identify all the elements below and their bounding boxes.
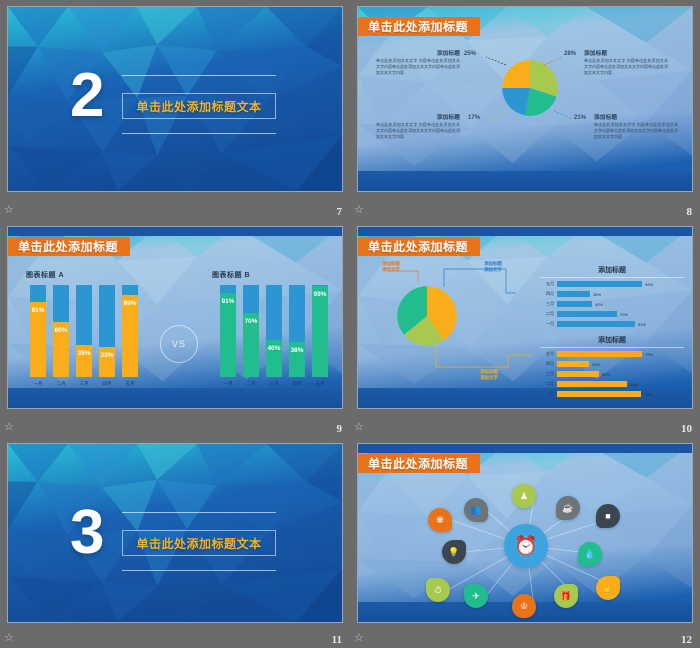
hbar-row: 二月70% bbox=[540, 311, 684, 318]
star-icon[interactable]: ☆ bbox=[4, 421, 16, 433]
divider-top bbox=[122, 75, 276, 76]
battery-icon: ■ bbox=[605, 512, 610, 521]
divider-bottom bbox=[122, 570, 276, 571]
pin-node-bulb[interactable]: 💡 bbox=[442, 540, 466, 564]
divider-bottom bbox=[122, 133, 276, 134]
slide-title-bar[interactable]: 单击此处添加标题 bbox=[8, 237, 130, 256]
hbar-fill bbox=[557, 381, 627, 387]
slide-cell-12: 单击此处添加标题 bbox=[350, 437, 700, 648]
clock-icon: ⏱ bbox=[434, 586, 441, 595]
callout-block-bottom-left[interactable]: 添加标题 单击此处添加文本文字 内容单击此处添加文本文字内容单击此处添加文本文字… bbox=[376, 113, 460, 141]
bar-category: 五月 bbox=[312, 381, 328, 387]
callout-body: 单击此处添加文本文字 内容单击此处添加文本文字内容单击此处添加文本文字内容单击此… bbox=[594, 122, 678, 141]
bar-category: 三月 bbox=[76, 381, 92, 387]
section-number: 3 bbox=[70, 502, 102, 564]
thumbnail-footer: ☆ 10 bbox=[350, 413, 700, 437]
pie-callout-left: 添加标题添加文字 bbox=[368, 261, 414, 273]
pie-callout-bottom: 添加标题添加文字 bbox=[466, 369, 512, 381]
bar-column: 60%二月 bbox=[53, 285, 69, 377]
bar-value: 99% bbox=[312, 291, 328, 298]
star-icon[interactable]: ☆ bbox=[354, 421, 366, 433]
hbar-value: 70% bbox=[620, 312, 628, 317]
section-title-box[interactable]: 单击此处添加标题文本 bbox=[122, 93, 276, 119]
callout-block-top-right[interactable]: 添加标题 单击此处添加文本文字 内容单击此处添加文本文字内容单击此处添加文本文字… bbox=[584, 49, 668, 77]
thumbnail-footer: ☆ 9 bbox=[0, 413, 350, 437]
bar-value: 33% bbox=[99, 352, 115, 359]
callout-heading: 添加标题 bbox=[594, 113, 678, 121]
hbar-category: 四月 bbox=[540, 291, 554, 297]
hbar-category: 二月 bbox=[540, 381, 554, 387]
bar-column: 99%五月 bbox=[312, 285, 328, 377]
pie-percent-28: 28% bbox=[564, 51, 576, 57]
hbar-category: 三月 bbox=[540, 301, 554, 307]
callout-block-bottom-right[interactable]: 添加标题 单击此处添加文本文字 内容单击此处添加文本文字内容单击此处添加文本文字… bbox=[594, 113, 678, 141]
bar-category: 三月 bbox=[266, 381, 282, 387]
pie-percent-25: 25% bbox=[464, 51, 476, 57]
callout-body: 单击此处添加文本文字 内容单击此处添加文本文字内容单击此处添加文本文字内容单击此… bbox=[376, 122, 460, 141]
bar-category: 一月 bbox=[220, 381, 236, 387]
hbar-row: 三月40% bbox=[540, 301, 684, 308]
hbar-fill bbox=[557, 321, 635, 327]
thumbnail-footer: ☆ 8 bbox=[350, 198, 700, 220]
hbar-fill bbox=[557, 291, 590, 297]
hbar-fill bbox=[557, 361, 589, 367]
slide-title: 单击此处添加标题 bbox=[18, 238, 118, 255]
hand-icon: ✋ bbox=[602, 584, 613, 593]
icon-cluster: ⏰ ❋ 👥 ♟ 💡 ☕ ■ 💧 ⏱ bbox=[358, 444, 692, 622]
star-icon[interactable]: ☆ bbox=[354, 632, 366, 644]
slide-11[interactable]: 3 单击此处添加标题文本 bbox=[7, 443, 343, 623]
hbar-row: 二月80% bbox=[540, 381, 684, 388]
hbar-row: 四月38% bbox=[540, 291, 684, 298]
bar-value: 60% bbox=[53, 327, 69, 334]
user-group-icon: 👥 bbox=[470, 506, 481, 515]
bar-column: 70%二月 bbox=[243, 285, 259, 377]
bar-column: 33%四月 bbox=[99, 285, 115, 377]
callout-leader-lines bbox=[358, 7, 693, 192]
hbar-category: 一月 bbox=[540, 391, 554, 397]
pin-node-user-group[interactable]: 👥 bbox=[464, 498, 488, 522]
page-number: 8 bbox=[687, 206, 693, 218]
bar-value: 35% bbox=[76, 350, 92, 357]
pin-node-gift[interactable]: 🎁 bbox=[554, 584, 578, 608]
callout-heading: 添加标题 bbox=[584, 49, 668, 57]
hub-node[interactable]: ⏰ bbox=[504, 524, 548, 568]
slide-7[interactable]: 2 单击此处添加标题文本 bbox=[7, 6, 343, 192]
hbar-value: 38% bbox=[593, 292, 601, 297]
pin-node-molecule[interactable]: ❋ bbox=[428, 508, 452, 532]
hbar-fill bbox=[557, 351, 642, 357]
pin-node-clock[interactable]: ⏱ bbox=[426, 578, 450, 602]
bar-category: 二月 bbox=[53, 381, 69, 387]
bar-value: 70% bbox=[243, 318, 259, 325]
footer-band bbox=[8, 388, 342, 408]
page-number: 9 bbox=[337, 423, 343, 435]
hbar-row: 五月79% bbox=[540, 351, 684, 358]
bar-column: 89%五月 bbox=[122, 285, 138, 377]
hbar-value: 91% bbox=[638, 322, 646, 327]
page-number: 11 bbox=[332, 634, 342, 646]
slide-cell-11: 3 单击此处添加标题文本 ☆ 11 bbox=[0, 437, 350, 648]
hbar-panel-top[interactable]: 添加标题 五月99% 四月38% 三月40% 二月70% 一月91% bbox=[540, 265, 684, 328]
hbar-category: 一月 bbox=[540, 321, 554, 327]
bar-value: 91% bbox=[220, 298, 236, 305]
star-icon[interactable]: ☆ bbox=[354, 204, 366, 216]
hbar-fill bbox=[557, 391, 641, 397]
thumbnail-footer: ☆ 11 bbox=[0, 624, 350, 648]
bar-column: 91%一月 bbox=[220, 285, 236, 377]
hbar-category: 二月 bbox=[540, 311, 554, 317]
bar-column: 38%四月 bbox=[289, 285, 305, 377]
slide-cell-10: 单击此处添加标题 添加标题添加文字 bbox=[350, 220, 700, 437]
bar-category: 四月 bbox=[289, 381, 305, 387]
pie-callout-top: 添加标题添加文字 bbox=[470, 261, 516, 273]
bar-category: 五月 bbox=[122, 381, 138, 387]
hbar-value: 40% bbox=[595, 302, 603, 307]
hbar-value: 99% bbox=[645, 282, 653, 287]
callout-heading: 添加标题 bbox=[376, 49, 460, 57]
bar-category: 一月 bbox=[30, 381, 46, 387]
hbar-category: 五月 bbox=[540, 351, 554, 357]
star-icon[interactable]: ☆ bbox=[4, 632, 16, 644]
section-title: 单击此处添加标题文本 bbox=[136, 98, 261, 115]
hbar-category: 四月 bbox=[540, 361, 554, 367]
panel-title: 添加标题 bbox=[540, 335, 684, 348]
star-icon[interactable]: ☆ bbox=[4, 204, 16, 216]
vs-label: VS bbox=[172, 339, 186, 349]
section-number: 2 bbox=[70, 65, 102, 127]
hbar-fill bbox=[557, 311, 617, 317]
bar-category: 四月 bbox=[99, 381, 115, 387]
bar-column: 40%三月 bbox=[266, 285, 282, 377]
hbar-fill bbox=[557, 301, 592, 307]
thumbnail-footer: ☆ 12 bbox=[350, 624, 700, 648]
hbar-row: 四月28% bbox=[540, 361, 684, 368]
hbar-row: 一月72% bbox=[540, 391, 684, 398]
molecule-icon: ❋ bbox=[436, 516, 444, 525]
hbar-fill bbox=[557, 371, 599, 377]
slide-9[interactable]: 单击此处添加标题 图表标题 A 图表标题 B 81%一月 60%二月 35%三月… bbox=[7, 226, 343, 409]
person-icon: ♟ bbox=[520, 492, 528, 501]
bar-value: 38% bbox=[289, 347, 305, 354]
pin-node-person[interactable]: ♟ bbox=[512, 484, 536, 508]
pin-node-crown[interactable]: ♔ bbox=[512, 594, 536, 618]
group-a-title: 图表标题 A bbox=[26, 270, 64, 280]
section-title-box[interactable]: 单击此处添加标题文本 bbox=[122, 530, 276, 556]
hbar-fill bbox=[557, 281, 642, 287]
hbar-value: 28% bbox=[592, 362, 600, 367]
hbar-value: 72% bbox=[644, 392, 652, 397]
callout-block-top-left[interactable]: 添加标题 单击此处添加文本文字 内容单击此处添加文本文字内容单击此处添加文本文字… bbox=[376, 49, 460, 77]
hbar-value: 80% bbox=[630, 382, 638, 387]
page-number: 7 bbox=[337, 206, 343, 218]
hbar-category: 五月 bbox=[540, 281, 554, 287]
panel-title: 添加标题 bbox=[540, 265, 684, 278]
cup-icon: ☕ bbox=[562, 504, 573, 513]
droplet-icon: 💧 bbox=[584, 550, 595, 559]
hbar-row: 五月99% bbox=[540, 281, 684, 288]
hbar-row: 一月91% bbox=[540, 321, 684, 328]
slide-cell-9: 单击此处添加标题 图表标题 A 图表标题 B 81%一月 60%二月 35%三月… bbox=[0, 220, 350, 437]
hbar-panel-bottom[interactable]: 添加标题 五月79% 四月28% 三月50% 二月80% 一月72% bbox=[540, 335, 684, 398]
slide-10[interactable]: 单击此处添加标题 添加标题添加文字 bbox=[357, 226, 693, 409]
hbar-value: 50% bbox=[602, 372, 610, 377]
header-band bbox=[8, 227, 342, 236]
alarm-clock-icon: ⏰ bbox=[514, 537, 538, 556]
hbar-value: 79% bbox=[645, 352, 653, 357]
crown-icon: ♔ bbox=[520, 602, 528, 611]
hbar-category: 三月 bbox=[540, 371, 554, 377]
group-b-title: 图表标题 B bbox=[212, 270, 250, 280]
section-title: 单击此处添加标题文本 bbox=[136, 535, 261, 552]
pin-node-battery[interactable]: ■ bbox=[596, 504, 620, 528]
bar-column: 81%一月 bbox=[30, 285, 46, 377]
callout-body: 单击此处添加文本文字 内容单击此处添加文本文字内容单击此处添加文本文字内容单击此… bbox=[584, 58, 668, 77]
pin-node-droplet[interactable]: 💧 bbox=[578, 542, 602, 566]
bar-group-b[interactable]: 91%一月 70%二月 40%三月 38%四月 99%五月 bbox=[220, 285, 335, 377]
pie-percent-17: 17% bbox=[468, 115, 480, 121]
pin-node-cup[interactable]: ☕ bbox=[556, 496, 580, 520]
bar-column: 35%三月 bbox=[76, 285, 92, 377]
slide-cell-8: 单击此处添加标题 28% bbox=[350, 0, 700, 220]
page-number: 12 bbox=[681, 634, 692, 646]
pin-node-plane[interactable]: ✈ bbox=[464, 584, 488, 608]
gift-icon: 🎁 bbox=[560, 592, 571, 601]
slide-cell-7: 2 单击此处添加标题文本 ☆ 7 bbox=[0, 0, 350, 220]
slide-thumbnail-grid: 2 单击此处添加标题文本 ☆ 7 bbox=[0, 0, 700, 648]
page-number: 10 bbox=[681, 423, 692, 435]
plane-icon: ✈ bbox=[472, 592, 480, 601]
thumbnail-footer: ☆ 7 bbox=[0, 198, 350, 220]
bulb-icon: 💡 bbox=[448, 548, 459, 557]
bar-value: 40% bbox=[266, 345, 282, 352]
callout-heading: 添加标题 bbox=[376, 113, 460, 121]
hbar-row: 三月50% bbox=[540, 371, 684, 378]
pin-node-hand[interactable]: ✋ bbox=[596, 576, 620, 600]
bar-group-a[interactable]: 81%一月 60%二月 35%三月 33%四月 89%五月 bbox=[30, 285, 145, 377]
pie-percent-21: 21% bbox=[574, 115, 586, 121]
divider-top bbox=[122, 512, 276, 513]
bar-value: 81% bbox=[30, 307, 46, 314]
vs-badge: VS bbox=[160, 325, 198, 363]
callout-body: 单击此处添加文本文字 内容单击此处添加文本文字内容单击此处添加文本文字内容单击此… bbox=[376, 58, 460, 77]
bar-category: 二月 bbox=[243, 381, 259, 387]
slide-8[interactable]: 单击此处添加标题 28% bbox=[357, 6, 693, 192]
bar-value: 89% bbox=[122, 300, 138, 307]
slide-12[interactable]: 单击此处添加标题 bbox=[357, 443, 693, 623]
